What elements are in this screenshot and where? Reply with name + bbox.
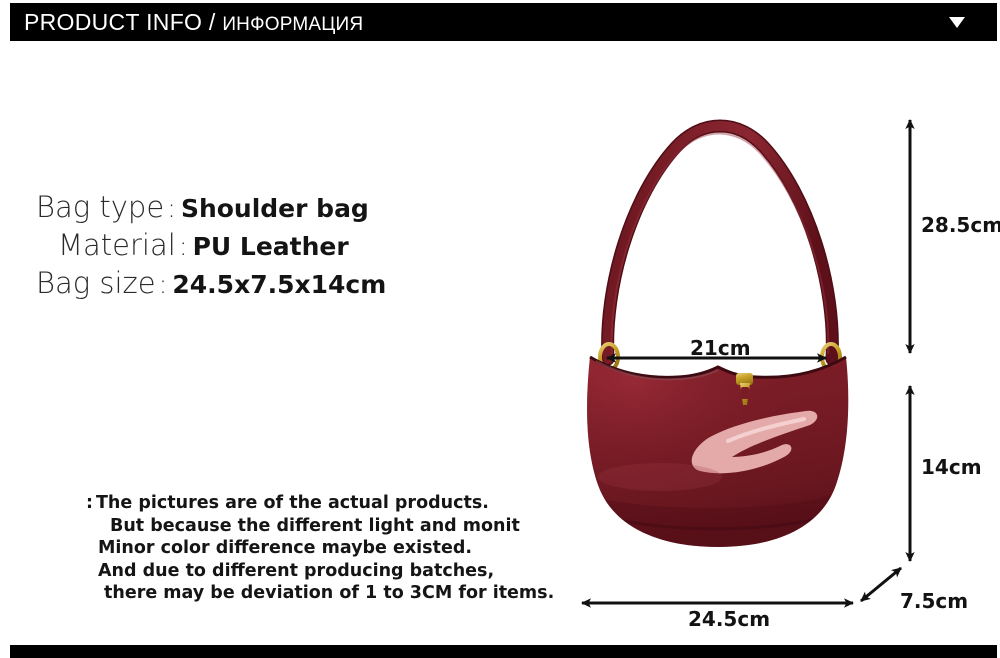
product-info-page: PRODUCT INFO / ИНФОРМАЦИЯ Bag type : Sho… (0, 0, 1000, 658)
page-title-ru: ИНФОРМАЦИЯ (222, 14, 363, 35)
bag-body (560, 335, 860, 555)
disclaimer-line-2: But because the different light and moni… (86, 515, 554, 538)
spec-label-material: Material (58, 228, 176, 262)
chevron-down-icon[interactable] (949, 17, 965, 28)
disclaimer-line-3: Minor color difference maybe existed. (86, 537, 554, 560)
page-title-en: PRODUCT INFO (24, 9, 202, 35)
disclaimer-prefix: : (86, 493, 93, 513)
spec-separator-material: : (176, 232, 193, 262)
dimension-label-bag-height: 14cm (921, 455, 982, 479)
spec-separator-bag-type: : (164, 194, 181, 224)
footer-bar (10, 645, 997, 658)
disclaimer-line-1: :The pictures are of the actual products… (86, 492, 554, 515)
spec-value-bag-type: Shoulder bag (181, 194, 369, 223)
spec-row-material: Material : PU Leather (36, 228, 456, 262)
disclaimer-block: :The pictures are of the actual products… (86, 492, 554, 605)
spec-row-bag-size: Bag size : 24.5x7.5x14cm (36, 266, 456, 300)
page-title: PRODUCT INFO / ИНФОРМАЦИЯ (24, 11, 363, 34)
product-info-header[interactable]: PRODUCT INFO / ИНФОРМАЦИЯ (10, 3, 997, 41)
spec-value-bag-size: 24.5x7.5x14cm (172, 270, 386, 299)
bag-strap (608, 126, 833, 359)
spec-label-bag-type: Bag type (36, 190, 164, 224)
spec-separator-bag-size: : (156, 270, 173, 300)
dimension-label-strap-width: 21cm (690, 336, 751, 360)
dimension-label-bag-depth: 7.5cm (900, 589, 968, 613)
specification-list: Bag type : Shoulder bag Material : PU Le… (36, 190, 456, 304)
spec-label-bag-size: Bag size (36, 266, 156, 300)
spec-value-material: PU Leather (193, 232, 349, 261)
disclaimer-text-1: The pictures are of the actual products. (96, 493, 489, 513)
disclaimer-line-4: And due to different producing batches, (86, 560, 554, 583)
dimension-label-bag-width: 24.5cm (688, 607, 770, 631)
disclaimer-line-5: there may be deviation of 1 to 3CM for i… (86, 582, 554, 605)
dimension-label-total-height: 28.5cm (921, 213, 1000, 237)
page-title-separator: / (202, 9, 222, 35)
spec-row-bag-type: Bag type : Shoulder bag (36, 190, 456, 224)
